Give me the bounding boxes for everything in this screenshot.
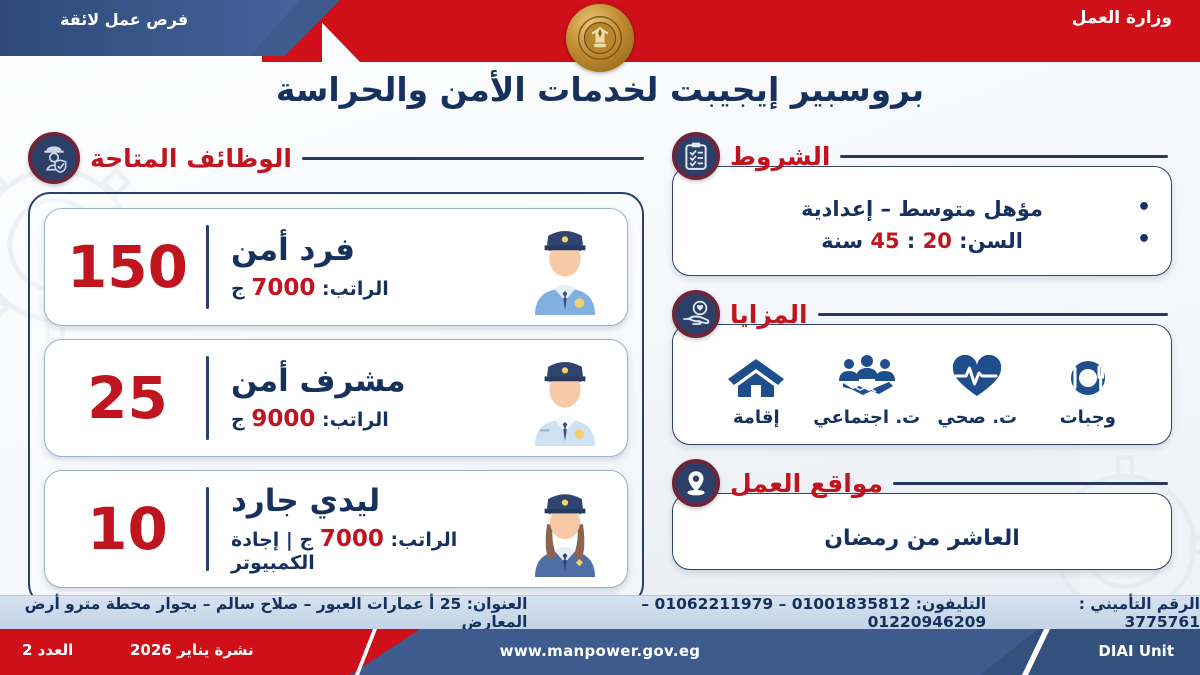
female-security-guard-avatar [513, 481, 617, 577]
benefits-section: المزايا [672, 290, 1172, 445]
job-salary: الراتب: 9000 ج [231, 406, 513, 432]
locations-section-header: مواقع العمل [672, 459, 1172, 507]
job-salary: الراتب: 7000 ج [231, 275, 513, 301]
conditions-header-rule [840, 155, 1168, 158]
job-text: مشرف أمن الراتب: 9000 ج [215, 364, 513, 432]
right-column: الشروط مؤه [672, 132, 1172, 584]
job-card[interactable]: مشرف أمن الراتب: 9000 ج 25 [44, 339, 628, 457]
benefit-label: إقامة [733, 407, 780, 428]
condition-age-sep: : [907, 229, 915, 253]
conditions-card: مؤهل متوسط – إعدادية السن: 20 : 45 سنة [672, 166, 1172, 276]
job-title: فرد أمن [231, 233, 513, 267]
infographic-page: فرص عمل لائقة وزارة العمل بروسبير إيجيبت… [0, 0, 1200, 675]
conditions-section-title: الشروط [730, 142, 830, 171]
benefit-label: ت. اجتماعي [813, 407, 920, 428]
location-value: العاشر من رمضان [695, 520, 1149, 555]
male-supervisor-avatar [513, 350, 617, 446]
salary-currency: ج [231, 278, 245, 300]
salary-currency: ج [300, 529, 314, 551]
list-item: مؤهل متوسط – إعدادية [695, 197, 1149, 221]
salary-value: 7000 [251, 275, 315, 301]
benefit-label: ت. صحي [937, 407, 1017, 428]
job-count: 150 [55, 238, 200, 296]
home-icon [726, 355, 786, 401]
benefits-card: وجبات ت. صحي [672, 324, 1172, 445]
salary-value: 7000 [320, 526, 384, 552]
phone-label: التليفون: [916, 595, 986, 613]
locations-section-title: مواقع العمل [730, 469, 883, 498]
condition-age-to: 45 [870, 229, 899, 253]
benefits-header-rule [818, 313, 1168, 316]
meal-plate-icon [1060, 355, 1116, 401]
conditions-section-header: الشروط [672, 132, 1172, 180]
job-card[interactable]: فرد أمن الراتب: 7000 ج 150 [44, 208, 628, 326]
job-title: ليدي جارد [231, 484, 513, 518]
job-text: فرد أمن الراتب: 7000 ج [215, 233, 513, 301]
footer-unit-label: DIAI Unit [1098, 642, 1174, 660]
benefits-section-title: المزايا [730, 300, 808, 329]
phone-block: التليفون: 01001835812 – 01062211979 – 01… [555, 595, 986, 631]
jobs-header-rule [302, 157, 644, 160]
clipboard-checklist-icon [672, 132, 720, 180]
jobs-section-title: الوظائف المتاحة [90, 144, 292, 173]
salary-currency: ج [231, 409, 245, 431]
benefit-label: وجبات [1060, 407, 1116, 428]
jobs-panel: فرد أمن الراتب: 7000 ج 150 [28, 192, 644, 606]
benefits-list: وجبات ت. صحي [695, 351, 1149, 430]
conditions-list: مؤهل متوسط – إعدادية السن: 20 : 45 سنة [695, 197, 1149, 253]
condition-qualification: مؤهل متوسط – إعدادية [801, 197, 1043, 221]
footer-website-link[interactable]: www.manpower.gov.eg [0, 642, 1200, 660]
address-text: العنوان: 25 أ عمارات العبور – صلاح سالم … [0, 595, 527, 631]
page-title: بروسبير إيجيبت لخدمات الأمن والحراسة [0, 70, 1200, 109]
jobs-section: الوظائف المتاحة [28, 132, 644, 606]
insurance-number: 3775761 [1125, 613, 1200, 631]
job-count: 25 [55, 369, 200, 427]
benefit-item: ت. اجتماعي [817, 355, 917, 428]
locations-header-rule [893, 482, 1168, 485]
condition-age-from: 20 [923, 229, 952, 253]
job-divider [206, 487, 209, 571]
contact-bar: الرقم التأميني : 3775761 التليفون: 01001… [0, 595, 1200, 629]
heartbeat-icon [948, 355, 1006, 401]
locations-section: مواقع العمل العاشر من رمضان [672, 459, 1172, 570]
job-divider [206, 356, 209, 440]
header-right-label: وزارة العمل [1072, 8, 1172, 28]
job-title: مشرف أمن [231, 364, 513, 398]
hand-heart-icon [672, 290, 720, 338]
male-security-guard-avatar [513, 219, 617, 315]
job-card[interactable]: ليدي جارد الراتب: 7000 ج | إجادة الكمبيو… [44, 470, 628, 588]
jobs-section-header: الوظائف المتاحة [28, 132, 644, 184]
benefits-section-header: المزايا [672, 290, 1172, 338]
handshake-people-icon [835, 355, 899, 401]
job-count: 10 [55, 500, 200, 558]
condition-age-label: السن: [959, 229, 1023, 253]
salary-value: 9000 [251, 406, 315, 432]
job-divider [206, 225, 209, 309]
insurance-label: الرقم التأميني : [1079, 595, 1200, 613]
conditions-section: الشروط مؤه [672, 132, 1172, 276]
insurance-number-block: الرقم التأميني : 3775761 [1014, 595, 1200, 631]
job-text: ليدي جارد الراتب: 7000 ج | إجادة الكمبيو… [215, 484, 513, 574]
job-salary: الراتب: 7000 ج | إجادة الكمبيوتر [231, 526, 513, 574]
egypt-eagle-emblem-icon [566, 4, 634, 72]
security-guard-shield-icon [28, 132, 80, 184]
benefit-item: وجبات [1038, 355, 1138, 428]
condition-age-unit: سنة [821, 229, 863, 253]
map-pin-icon [672, 459, 720, 507]
salary-label: الراتب: [390, 529, 457, 551]
salary-label: الراتب: [322, 409, 389, 431]
footer-bar: العدد 2 نشرة يناير 2026 www.manpower.gov… [0, 629, 1200, 675]
benefit-item: إقامة [706, 355, 806, 428]
salary-label: الراتب: [322, 278, 389, 300]
benefit-item: ت. صحي [927, 355, 1027, 428]
header-left-label: فرص عمل لائقة [60, 10, 188, 29]
list-item: السن: 20 : 45 سنة [695, 229, 1149, 253]
